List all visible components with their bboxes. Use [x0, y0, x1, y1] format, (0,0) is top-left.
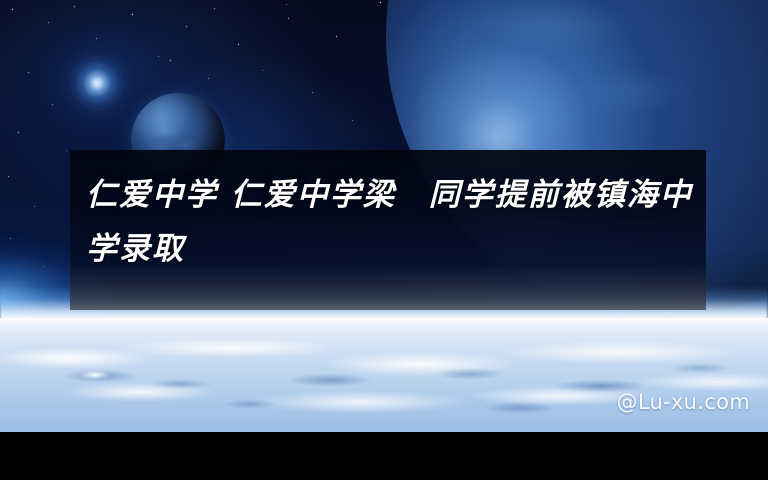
earth-cloud-surface — [0, 318, 768, 432]
watermark-text: @Lu-xu.com — [617, 390, 750, 414]
letterbox-bar — [0, 432, 768, 480]
headline-text: 仁爱中学 仁爱中学梁 同学提前被镇海中学录取 — [86, 168, 700, 276]
mountain-peak — [78, 370, 112, 380]
sea-gaps-layer — [0, 318, 768, 432]
starfield-layer-3 — [0, 0, 1, 1]
bright-star-icon — [70, 56, 124, 110]
banner-image: 仁爱中学 仁爱中学梁 同学提前被镇海中学录取 @Lu-xu.com — [0, 0, 768, 480]
